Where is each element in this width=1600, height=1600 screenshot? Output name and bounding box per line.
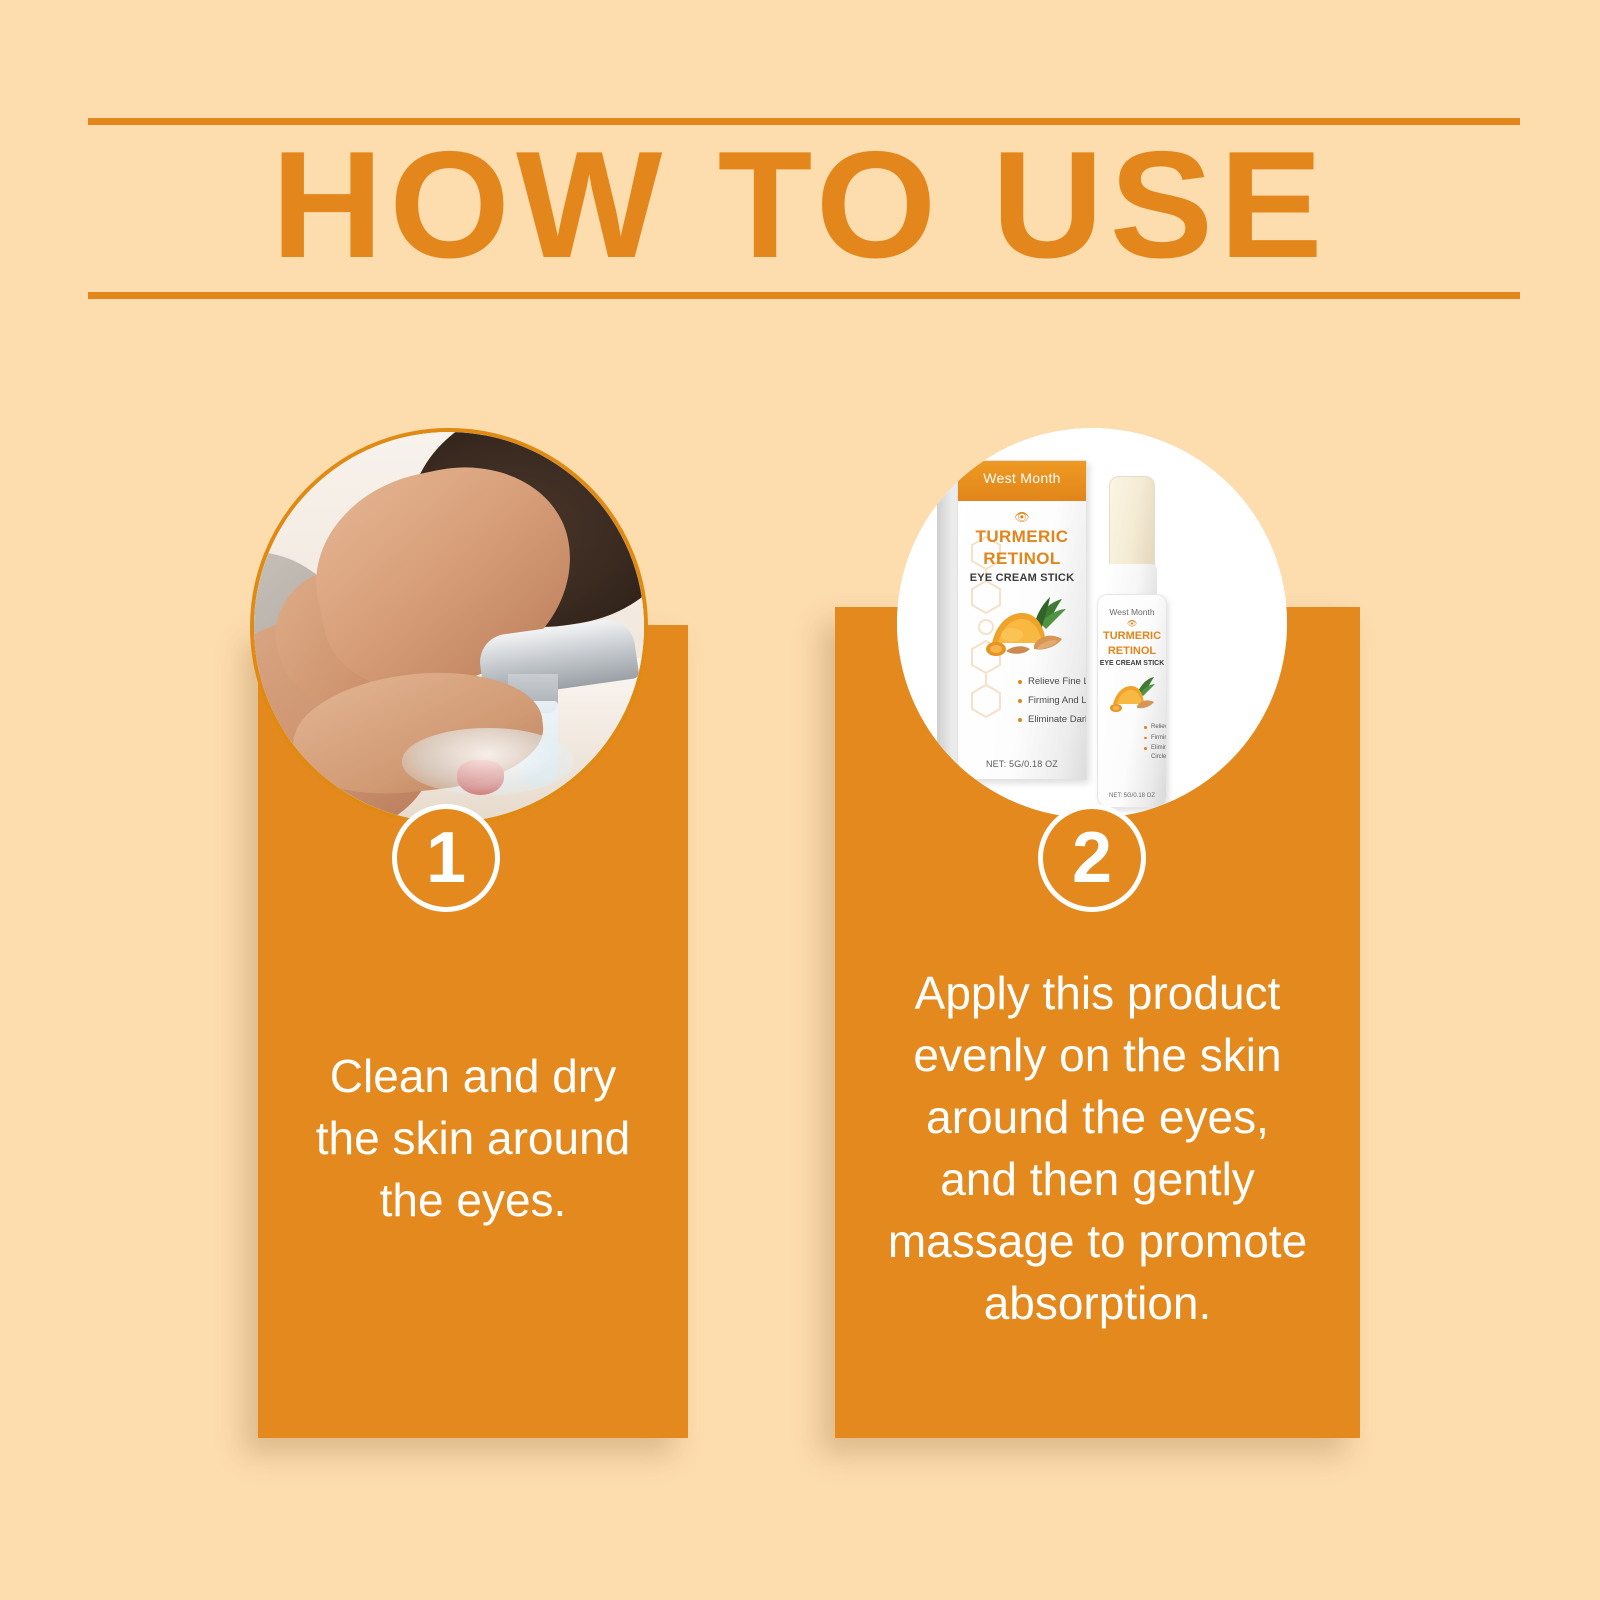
product-scene: West Month 👁 TURMERIC RETINOL EYE CREAM …: [897, 428, 1287, 818]
step-2-photo-product: West Month 👁 TURMERIC RETINOL EYE CREAM …: [897, 428, 1287, 818]
product-name-line1: TURMERIC: [958, 527, 1086, 547]
product-box-side: [937, 450, 959, 785]
product-net-weight: NET: 5G/0.18 OZ: [958, 759, 1086, 769]
product-name-line2: RETINOL: [958, 549, 1086, 569]
infographic-canvas: HOW TO USE 1 Clean and dry: [0, 0, 1600, 1600]
product-subtitle: EYE CREAM STICK: [958, 572, 1086, 584]
step-2-number-badge: 2: [1038, 804, 1146, 912]
step-2-caption: Apply this product evenly on the skin ar…: [845, 962, 1350, 1334]
benefit-item: Relieve Fine Lines: [1144, 723, 1167, 732]
benefit-item: Relieve Fine Lines: [1016, 676, 1087, 688]
washing-face-scene: [254, 432, 644, 822]
turmeric-illustration: [1108, 673, 1156, 713]
stick-body: West Month 👁 TURMERIC RETINOL EYE CREAM …: [1097, 594, 1167, 808]
benefit-item: Eliminate Dark Circle: [1016, 714, 1087, 726]
step-1-caption: Clean and dry the skin around the eyes.: [258, 1045, 688, 1231]
turmeric-illustration: [982, 591, 1068, 657]
product-brand-name: West Month: [958, 470, 1086, 486]
eye-icon: 👁: [958, 511, 1086, 523]
benefit-item: Firming And Lifting: [1144, 734, 1167, 743]
stick-name-line2: RETINOL: [1098, 645, 1166, 657]
stick-subtitle: EYE CREAM STICK: [1098, 660, 1166, 667]
water-splash: [402, 728, 574, 794]
page-title: HOW TO USE: [0, 122, 1600, 288]
step-1-number-badge: 1: [392, 804, 500, 912]
step-1-photo-washing-face: [250, 428, 648, 826]
stick-net-weight: NET: 5G/0.18 OZ: [1098, 793, 1166, 799]
stick-benefits-list: Relieve Fine Lines Firming And Lifting E…: [1104, 723, 1167, 763]
stick-name-line1: TURMERIC: [1098, 630, 1166, 642]
eye-icon: 👁: [1098, 620, 1166, 628]
title-rule-bottom: [88, 292, 1520, 299]
benefit-item: Firming And Lifting: [1016, 695, 1087, 707]
product-stick: West Month 👁 TURMERIC RETINOL EYE CREAM …: [1093, 476, 1165, 806]
benefit-item: Eliminate Dark Circle: [1144, 744, 1167, 761]
stick-brand-name: West Month: [1098, 607, 1166, 617]
product-box: West Month 👁 TURMERIC RETINOL EYE CREAM …: [957, 460, 1087, 780]
stick-cap: [1109, 476, 1155, 570]
header: HOW TO USE: [0, 0, 1600, 340]
product-benefits-list: Relieve Fine Lines Firming And Lifting E…: [976, 676, 1087, 733]
